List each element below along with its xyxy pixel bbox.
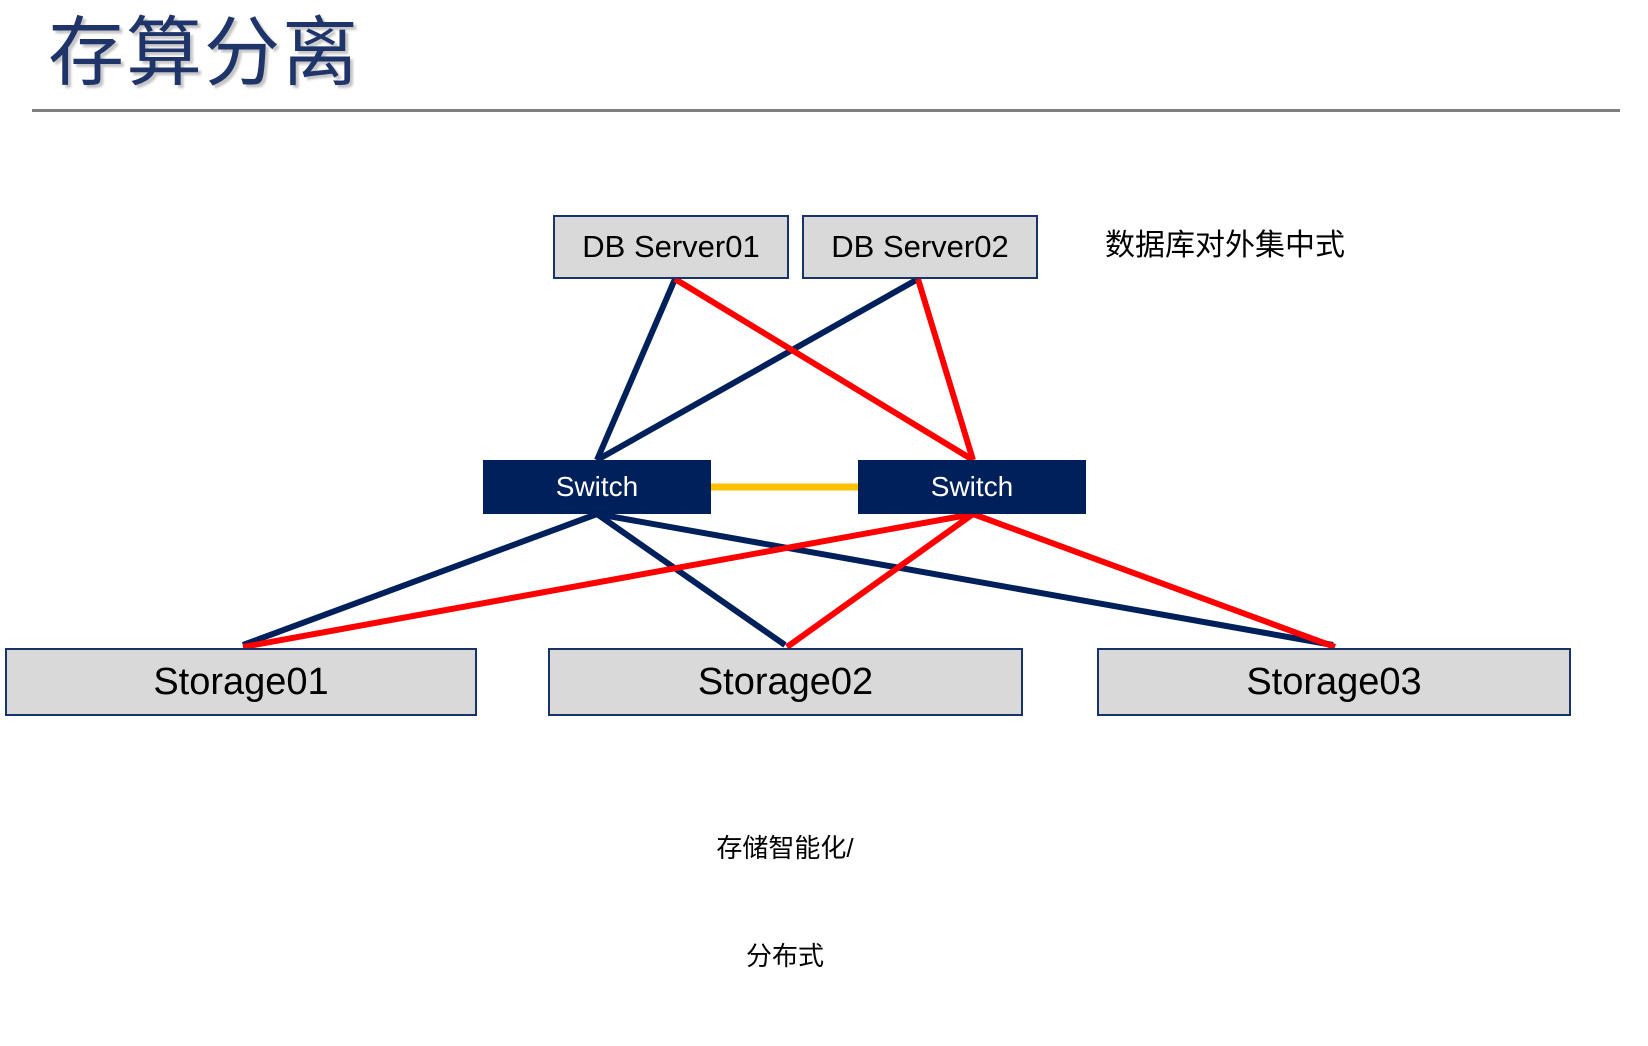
node-label: Switch bbox=[931, 471, 1013, 503]
node-switch-left[interactable]: Switch bbox=[483, 460, 711, 514]
annotation-storage-tier-line2: 分布式 bbox=[645, 938, 925, 974]
node-label: Storage02 bbox=[698, 661, 873, 704]
link-switch-left-storage03 bbox=[597, 514, 1333, 645]
slide-canvas: 存算分离 DB Server01 DB Server02 Switch Swit… bbox=[0, 0, 1648, 886]
annotation-storage-tier-line1: 存储智能化/ bbox=[645, 830, 925, 866]
annotation-db-tier: 数据库对外集中式 bbox=[1105, 225, 1345, 267]
node-storage-01[interactable]: Storage01 bbox=[5, 648, 477, 716]
link-switch-left-storage01 bbox=[243, 514, 597, 645]
link-db02-switch-left bbox=[597, 279, 918, 460]
link-db01-switch-left bbox=[597, 279, 675, 460]
node-switch-right[interactable]: Switch bbox=[858, 460, 1086, 514]
annotation-storage-tier: 存储智能化/ 分布式 bbox=[645, 758, 925, 1046]
node-db-server-01[interactable]: DB Server01 bbox=[553, 215, 789, 279]
node-label: Storage03 bbox=[1246, 661, 1421, 704]
node-label: Switch bbox=[556, 471, 638, 503]
node-label: Storage01 bbox=[153, 661, 328, 704]
node-storage-03[interactable]: Storage03 bbox=[1097, 648, 1571, 716]
connection-lines-layer bbox=[0, 0, 1648, 886]
link-switch-right-storage01 bbox=[243, 514, 973, 647]
link-switch-right-storage03 bbox=[973, 514, 1335, 647]
node-db-server-02[interactable]: DB Server02 bbox=[802, 215, 1038, 279]
node-label: DB Server01 bbox=[582, 229, 759, 265]
node-label: DB Server02 bbox=[831, 229, 1008, 265]
node-storage-02[interactable]: Storage02 bbox=[548, 648, 1023, 716]
